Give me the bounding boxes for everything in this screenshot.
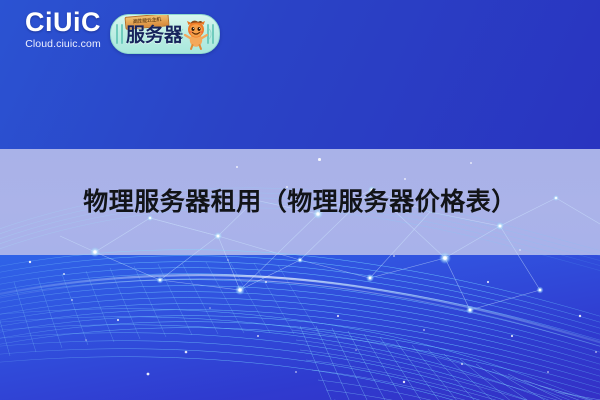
page-title: 物理服务器租用（物理服务器价格表） xyxy=(83,185,517,219)
title-area: 物理服务器租用（物理服务器价格表） xyxy=(0,149,600,255)
lower-background-band xyxy=(0,255,600,400)
brand-wordmark: CiUiC xyxy=(16,7,110,37)
badge-label: 服务器 xyxy=(126,24,184,48)
banner-header: CiUiC Cloud.ciuic.com 高性能云主机 服务器 xyxy=(0,0,600,149)
brand-logo[interactable]: CiUiC Cloud.ciuic.com xyxy=(16,7,110,51)
server-badge[interactable]: 高性能云主机 服务器 xyxy=(110,14,220,54)
orange-cat-mascot-icon xyxy=(179,17,213,51)
badge-stripe-left-icon xyxy=(116,22,125,46)
promo-banner: CiUiC Cloud.ciuic.com 高性能云主机 服务器 xyxy=(0,0,600,400)
brand-domain: Cloud.ciuic.com xyxy=(16,37,110,51)
